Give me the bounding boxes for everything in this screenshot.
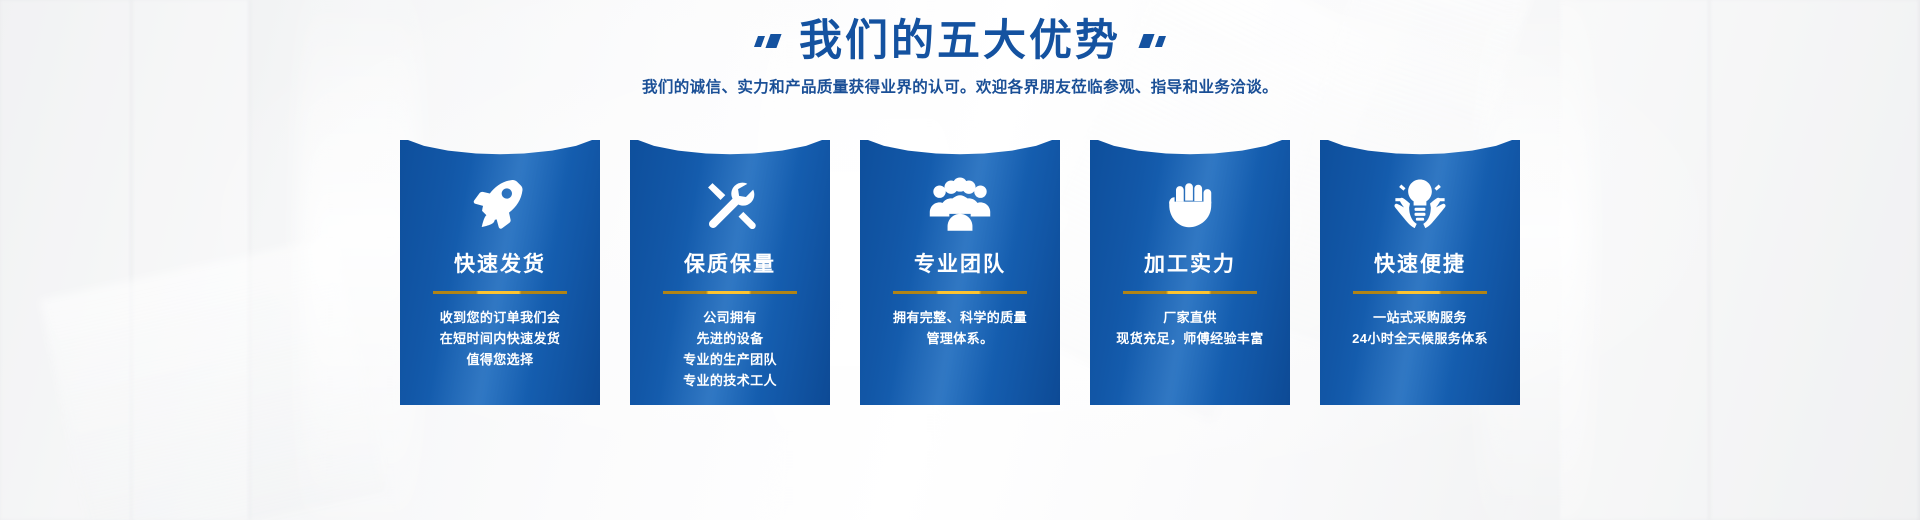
page-title: 我们的五大优势: [799, 18, 1121, 64]
card-description-line: 值得您选择: [440, 349, 561, 370]
card-divider: [1353, 291, 1487, 294]
diamond-marks-icon: [756, 34, 779, 48]
card-description-line: 厂家直供: [1116, 307, 1263, 328]
card-description-line: 一站式采购服务: [1352, 307, 1488, 328]
advantage-card[interactable]: 加工实力 厂家直供 现货充足，师傅经验丰富: [1090, 140, 1290, 405]
card-description: 一站式采购服务 24小时全天候服务体系: [1352, 307, 1488, 349]
card-description: 公司拥有 先进的设备 专业的生产团队 专业的技术工人: [683, 307, 777, 391]
card-description: 厂家直供 现货充足，师傅经验丰富: [1116, 307, 1263, 349]
card-divider: [663, 291, 797, 294]
card-divider: [433, 291, 567, 294]
card-title: 快速发货: [454, 248, 546, 278]
card-description-line: 先进的设备: [683, 328, 777, 349]
page-subtitle: 我们的诚信、实力和产品质量获得业界的认可。欢迎各界朋友莅临参观、指导和业务洽谈。: [0, 75, 1920, 97]
card-description-line: 拥有完整、科学的质量: [893, 307, 1027, 328]
fist-icon: [1162, 174, 1218, 236]
title-row: 我们的五大优势: [0, 0, 1920, 64]
card-description: 收到您的订单我们会 在短时间内快速发货 值得您选择: [440, 307, 561, 370]
card-description-line: 管理体系。: [893, 328, 1027, 349]
advantage-card-list: 快速发货 收到您的订单我们会 在短时间内快速发货 值得您选择 保质保量: [0, 140, 1920, 408]
diamond-marks-icon: [1141, 34, 1164, 48]
card-title: 专业团队: [914, 248, 1006, 278]
card-description: 拥有完整、科学的质量 管理体系。: [893, 307, 1027, 349]
card-description-line: 收到您的订单我们会: [440, 307, 561, 328]
wrench-screwdriver-icon: [700, 174, 760, 236]
advantage-card[interactable]: 专业团队 拥有完整、科学的质量 管理体系。: [860, 140, 1060, 405]
card-title: 保质保量: [684, 248, 776, 278]
card-title: 加工实力: [1144, 248, 1236, 278]
card-divider: [1123, 291, 1257, 294]
card-description-line: 专业的生产团队: [683, 349, 777, 370]
card-description-line: 在短时间内快速发货: [440, 328, 561, 349]
advantage-card[interactable]: 快速发货 收到您的订单我们会 在短时间内快速发货 值得您选择: [400, 140, 600, 405]
hands-lightbulb-icon: [1389, 174, 1451, 236]
card-title: 快速便捷: [1374, 248, 1466, 278]
rocket-icon: [469, 174, 531, 236]
advantage-card[interactable]: 快速便捷 一站式采购服务 24小时全天候服务体系: [1320, 140, 1520, 405]
card-description-line: 专业的技术工人: [683, 370, 777, 391]
advantage-card[interactable]: 保质保量 公司拥有 先进的设备 专业的生产团队 专业的技术工人: [630, 140, 830, 405]
card-divider: [893, 291, 1027, 294]
section-header: 我们的五大优势 我们的诚信、实力和产品质量获得业界的认可。欢迎各界朋友莅临参观、…: [0, 0, 1920, 97]
card-description-line: 24小时全天候服务体系: [1352, 328, 1488, 349]
card-description-line: 公司拥有: [683, 307, 777, 328]
team-group-icon: [928, 174, 992, 236]
card-description-line: 现货充足，师傅经验丰富: [1116, 328, 1263, 349]
